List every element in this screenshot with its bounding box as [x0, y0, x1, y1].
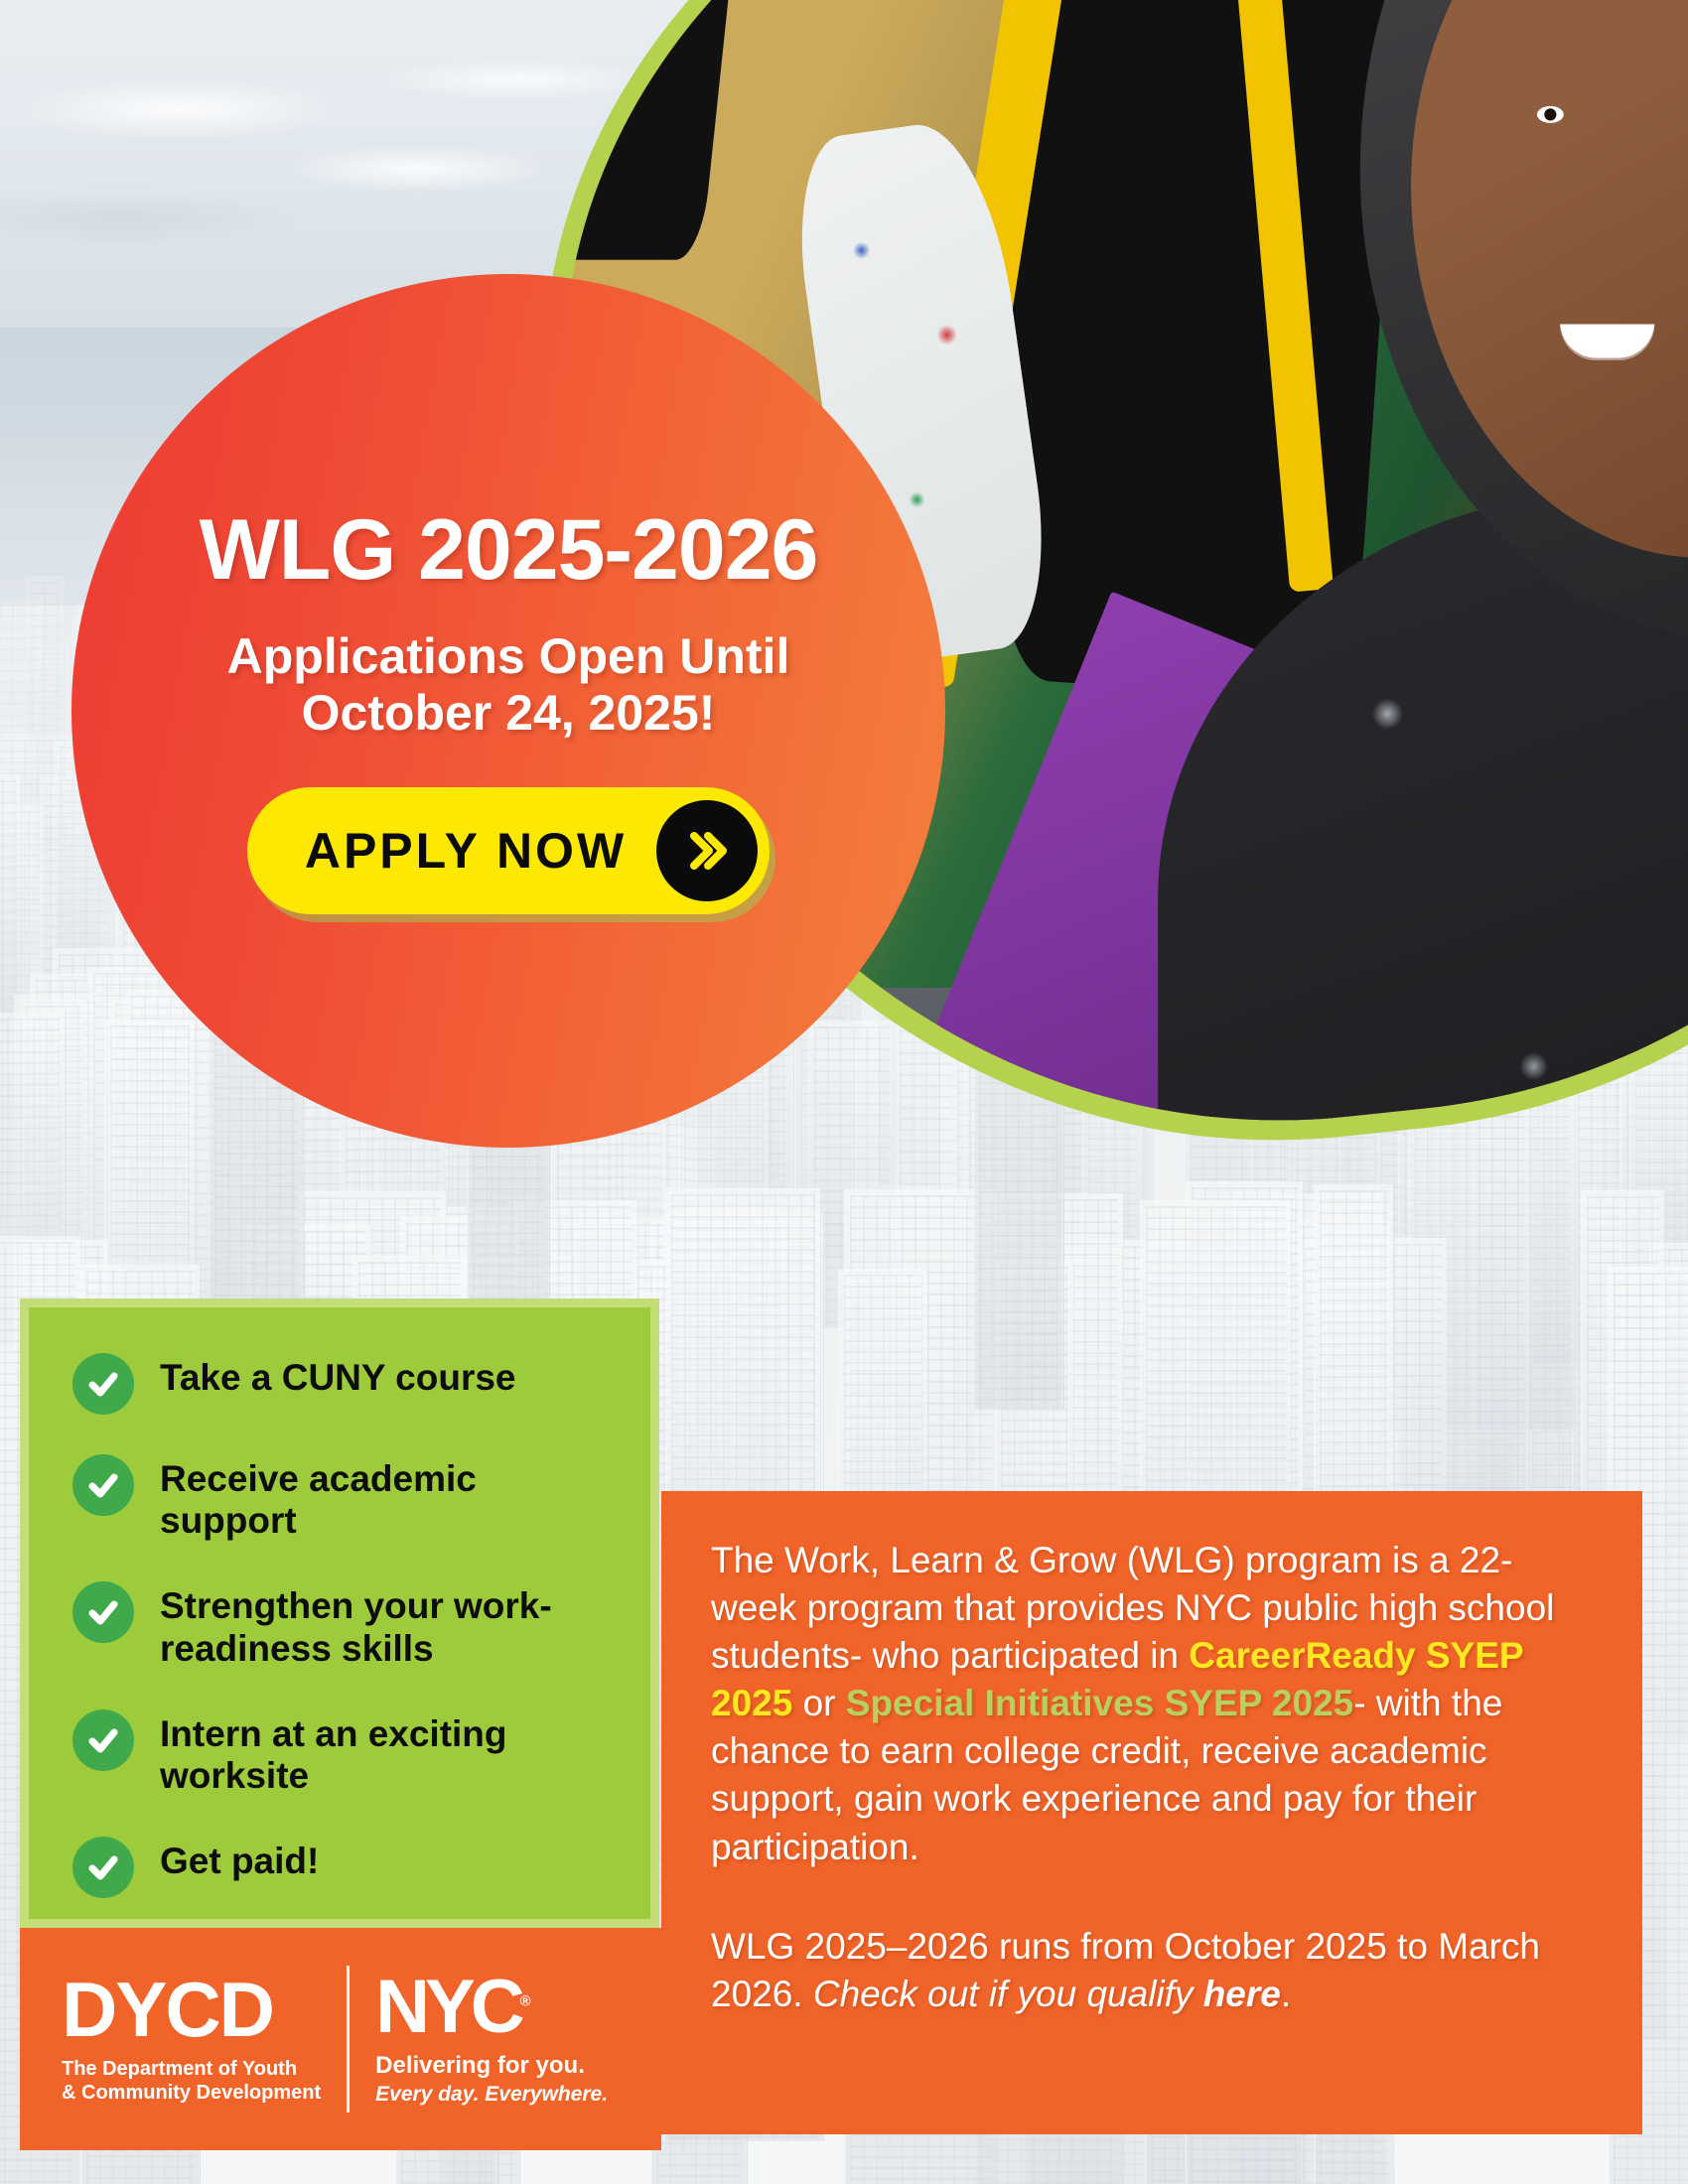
nyc-wordmark-text: NYC — [375, 1965, 519, 2049]
list-item: Take a CUNY course — [72, 1351, 621, 1415]
special-initiatives-syep-highlight: Special Initiatives SYEP 2025 — [846, 1683, 1353, 1723]
dycd-tagline: The Department of Youth & Community Deve… — [62, 2057, 321, 2106]
description-period: . — [1281, 1974, 1291, 2014]
registered-trademark-icon: ® — [520, 1993, 531, 2010]
dycd-wordmark: DYCD — [62, 1973, 321, 2047]
nyc-wordmark: NYC® — [375, 1972, 608, 2044]
apply-now-label: APPLY NOW — [305, 822, 627, 880]
list-item: Strengthen your work-readiness skills — [72, 1579, 621, 1669]
benefit-label: Take a CUNY course — [160, 1351, 516, 1399]
list-item: Get paid! — [72, 1835, 621, 1898]
check-icon — [72, 1709, 134, 1771]
here-link[interactable]: here — [1203, 1974, 1281, 2014]
description-paragraph-2: WLG 2025–2026 runs from October 2025 to … — [711, 1923, 1585, 2018]
double-chevron-right-icon — [656, 800, 758, 901]
nyc-tagline-secondary: Every day. Everywhere. — [375, 2083, 608, 2107]
benefit-label: Intern at an exciting worksite — [160, 1707, 621, 1797]
program-description-box: The Work, Learn & Grow (WLG) program is … — [661, 1491, 1642, 2134]
flyer-page: WLG 2025-2026 Applications Open Until Oc… — [0, 0, 1688, 2184]
check-icon — [72, 1581, 134, 1643]
check-icon — [72, 1837, 134, 1898]
dycd-logo: DYCD The Department of Youth & Community… — [62, 1973, 321, 2106]
benefit-label: Strengthen your work-readiness skills — [160, 1579, 621, 1669]
check-icon — [72, 1454, 134, 1516]
nyc-tagline-primary: Delivering for you. — [375, 2052, 608, 2080]
hero-subtitle: Applications Open Until October 24, 2025… — [141, 628, 876, 742]
agency-logo-band: DYCD The Department of Youth & Community… — [20, 1928, 661, 2150]
description-conjunction: or — [792, 1683, 845, 1723]
benefit-label: Receive academic support — [160, 1452, 621, 1542]
nyc-logo: NYC® Delivering for you. Every day. Ever… — [375, 1972, 608, 2107]
logo-divider — [347, 1966, 350, 2113]
check-icon — [72, 1353, 134, 1415]
hero-circle: WLG 2025-2026 Applications Open Until Oc… — [71, 274, 945, 1148]
page-title: WLG 2025-2026 — [200, 507, 818, 595]
list-item: Intern at an exciting worksite — [72, 1707, 621, 1797]
benefits-checklist: Take a CUNY course Receive academic supp… — [20, 1298, 659, 1928]
apply-now-button[interactable]: APPLY NOW — [247, 787, 770, 914]
qualify-prompt-text: Check out if you qualify — [813, 1974, 1203, 2014]
list-item: Receive academic support — [72, 1452, 621, 1542]
benefit-label: Get paid! — [160, 1835, 319, 1882]
description-paragraph-1: The Work, Learn & Grow (WLG) program is … — [711, 1537, 1585, 1871]
